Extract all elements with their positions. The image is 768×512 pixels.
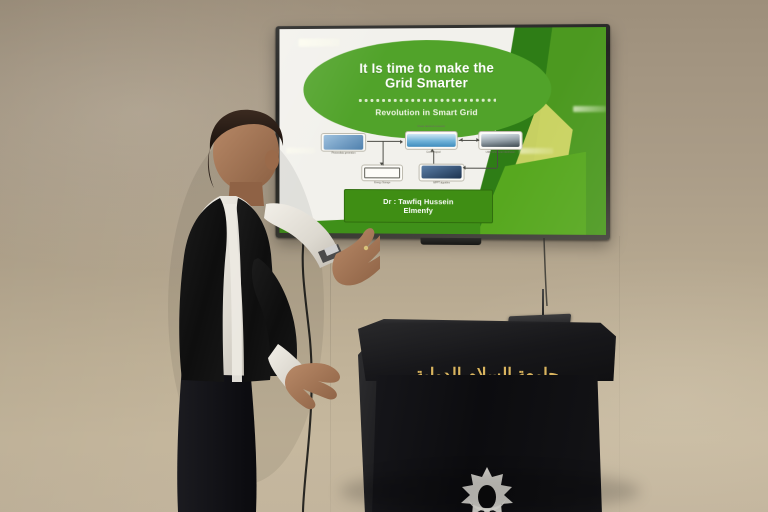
arrowhead-load-in bbox=[477, 138, 480, 142]
presentation-room-scene: It Is time to make the Grid Smarter Revo… bbox=[0, 0, 768, 512]
trousers bbox=[177, 366, 256, 512]
diagram-caption-control-signal: Control signal bbox=[415, 152, 452, 155]
presenter-name-line-1: Dr : Tawfiq Hussein bbox=[383, 197, 453, 206]
diagram-caption-converter: Power electronic converter bbox=[405, 126, 458, 129]
ear bbox=[265, 150, 279, 170]
slide-title-line-2: Grid Smarter bbox=[385, 76, 468, 91]
finger-ring bbox=[364, 246, 368, 250]
arrow-feedback-to-controller bbox=[464, 167, 497, 168]
right-hand bbox=[332, 228, 380, 285]
arrowhead-converter-in bbox=[401, 139, 404, 143]
lectern-front-panel bbox=[372, 375, 602, 512]
slide-dotted-divider bbox=[357, 98, 496, 102]
arrow-load-feedback bbox=[497, 149, 498, 167]
diagram-caption-load: Utility Grid / Load distribution bbox=[479, 152, 523, 155]
diagram-node-converter bbox=[405, 131, 458, 149]
university-crest-emblem bbox=[450, 459, 524, 512]
diagram-caption-controller: MPPT algorithm bbox=[419, 182, 464, 185]
crest-center bbox=[478, 485, 496, 509]
slide-title-line-1: It Is time to make the bbox=[359, 60, 494, 75]
slide-title: It Is time to make the Grid Smarter bbox=[321, 60, 534, 92]
diagram-caption-utility bbox=[456, 124, 499, 127]
grid-tower-icon bbox=[481, 134, 520, 147]
tv-mount-foot bbox=[421, 238, 482, 245]
power-cable bbox=[544, 238, 547, 306]
converter-icon bbox=[407, 134, 456, 147]
mppt-icon bbox=[421, 166, 461, 179]
lectern-top-slope: جامعة السلام الدولية bbox=[358, 319, 616, 381]
diagram-node-load bbox=[479, 131, 523, 149]
presenter-person bbox=[150, 108, 380, 512]
slide-subtitle: Revolution in Smart Grid bbox=[375, 107, 477, 117]
arrowhead-converter-back bbox=[460, 138, 463, 142]
arrowhead-controller-in bbox=[462, 166, 465, 170]
diagram-node-controller bbox=[419, 163, 464, 181]
arrow-branch-to-battery bbox=[382, 141, 383, 165]
presenter-name-line-2: Elmenfy bbox=[403, 206, 432, 215]
lectern[interactable]: جامعة السلام الدولية bbox=[352, 305, 624, 512]
